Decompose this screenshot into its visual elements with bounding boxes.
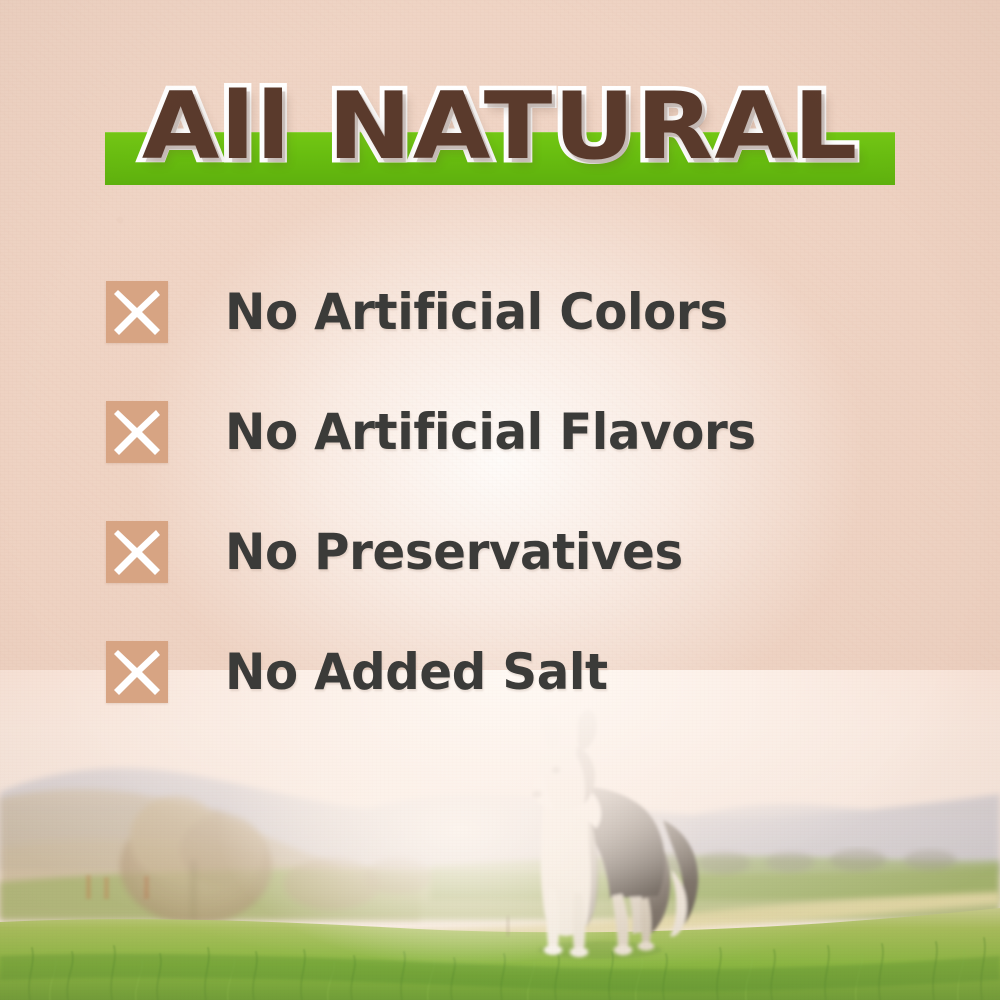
feature-label: No Added Salt — [225, 644, 608, 700]
feature-label: No Artificial Flavors — [225, 404, 756, 460]
headline-block: All NATURAL — [0, 72, 1000, 198]
feature-label: No Preservatives — [225, 524, 683, 580]
x-mark-icon — [106, 401, 168, 463]
list-item: No Artificial Flavors — [0, 372, 1000, 492]
feature-list: No Artificial Colors No Artificial Flavo… — [0, 252, 1000, 732]
all-natural-poster: All NATURAL No Artificial Colors No Arti… — [0, 0, 1000, 1000]
list-item: No Added Salt — [0, 612, 1000, 732]
list-item: No Preservatives — [0, 492, 1000, 612]
x-mark-box — [106, 401, 168, 463]
x-mark-icon — [106, 521, 168, 583]
x-mark-box — [106, 641, 168, 703]
x-mark-box — [106, 281, 168, 343]
feature-label: No Artificial Colors — [225, 284, 728, 340]
list-item: No Artificial Colors — [0, 252, 1000, 372]
page-title: All NATURAL — [0, 72, 1000, 180]
x-mark-box — [106, 521, 168, 583]
x-mark-icon — [106, 281, 168, 343]
x-mark-icon — [106, 641, 168, 703]
